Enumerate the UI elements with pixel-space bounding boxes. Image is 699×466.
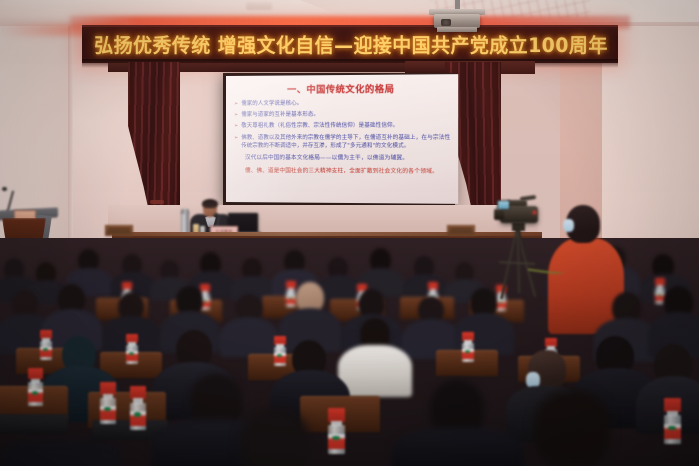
seat-cushion [0, 414, 68, 434]
water-bottle [462, 332, 474, 362]
head-table-sheen [112, 232, 542, 236]
projector-base [437, 27, 477, 32]
water-bottle [274, 336, 286, 366]
recording-indicator-icon [533, 211, 536, 214]
speaker-glasses-icon [204, 207, 216, 211]
camera-lens-icon [494, 209, 504, 220]
projector-lens-icon [441, 19, 451, 26]
thermos-cap [181, 209, 189, 214]
water-bottle [664, 398, 681, 444]
slide-bullet: ➢ 儒家的人文学说是核心。 [234, 99, 452, 108]
attendee-shoulders [392, 428, 524, 466]
attendee-shoulders [0, 440, 120, 466]
slide-paragraph: 儒、佛、道是中国社会的三大精神支柱，全面扩散到社会文化的各个领域。 [234, 167, 452, 177]
tripod-head [512, 222, 525, 231]
bullet-arrow-icon: ➢ [234, 122, 238, 130]
led-banner-screen: 弘扬优秀传统 增强文化自信—迎接中国共产党成立100周年 [90, 29, 612, 59]
slide-bullet: ➢ 佛教、道教以及其他外来的宗教在儒学的主导下，在儒道互补的基础上，在与宗法性传… [234, 133, 452, 150]
slide-body: ➢ 儒家的人文学说是核心。 ➢ 儒家与道家的互补是基本形态。 ➢ 敬天尊祖礼教（… [234, 99, 452, 176]
microphone-icon [214, 213, 218, 217]
slide-bullet: ➢ 儒家与道家的互补是基本形态。 [234, 110, 452, 119]
attendee-head [240, 408, 310, 466]
slide-bullet-text: 佛教、道教以及其他外来的宗教在儒学的主导下，在儒道互补的基础上，在与宗法性传统宗… [241, 133, 452, 150]
attendee-head [534, 390, 610, 466]
water-bottle [28, 368, 43, 406]
camera-lcd-screen [497, 200, 510, 210]
water-bottle [286, 281, 296, 307]
slide-bullet-text: 儒家的人文学说是核心。 [241, 99, 452, 108]
lecture-hall-photo: 弘扬优秀传统 增强文化自信—迎接中国共产党成立100周年 一、中国传统文化的格局… [0, 0, 699, 466]
wall-vent [447, 225, 475, 236]
bullet-arrow-icon: ➢ [234, 111, 238, 119]
slide-paragraph: 汉代以后中国的基本文化格局——以儒为主干，以佛道为辅翼。 [234, 154, 452, 163]
camera-hood [507, 200, 527, 207]
ceiling-vent [246, 2, 272, 10]
slide-bullet-text: 敬天尊祖礼教（礼俗性宗教、宗法性传统信仰）是基础性信仰。 [241, 122, 452, 131]
slide-bullet-text: 儒家与道家的互补是基本形态。 [241, 110, 452, 119]
banner-text: 弘扬优秀传统 增强文化自信—迎接中国共产党成立100周年 [94, 30, 607, 58]
led-banner: 弘扬优秀传统 增强文化自信—迎接中国共产党成立100周年 [82, 25, 618, 63]
water-bottle [126, 334, 138, 364]
bullet-arrow-icon: ➢ [234, 134, 238, 142]
water-bottle [40, 330, 52, 360]
slide-bullet: ➢ 敬天尊祖礼教（礼俗性宗教、宗法性传统信仰）是基础性信仰。 [234, 122, 452, 131]
curtain-tieback [150, 200, 164, 204]
wall-vent [105, 225, 133, 236]
lectern-microphone-icon [2, 187, 7, 191]
water-bottle [100, 382, 116, 424]
projection-screen: 一、中国传统文化的格局 ➢ 儒家的人文学说是核心。 ➢ 儒家与道家的互补是基本形… [226, 74, 458, 204]
attendee-shoulders [220, 317, 278, 357]
bullet-arrow-icon: ➢ [234, 100, 238, 108]
attendee-white-shirt [338, 345, 412, 397]
water-bottle [130, 386, 146, 430]
slide-title: 一、中国传统文化的格局 [226, 81, 458, 96]
water-bottle [328, 408, 345, 454]
face-mask [563, 219, 574, 232]
